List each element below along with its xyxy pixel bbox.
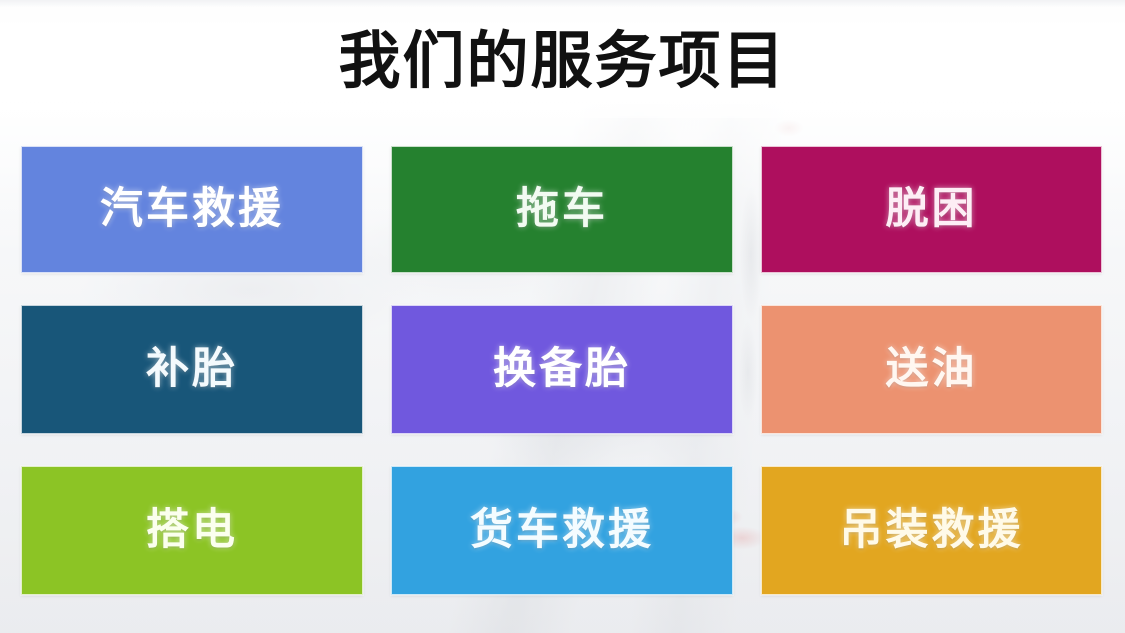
service-grid: 汽车救援拖车脱困补胎换备胎送油搭电货车救援吊装救援 xyxy=(21,146,1102,597)
service-tile-crane-hoist-rescue[interactable]: 吊装救援 xyxy=(761,466,1102,595)
service-tile-label: 补胎 xyxy=(146,348,238,391)
title-bar: 我们的服务项目 xyxy=(0,0,1125,118)
service-tile-truck-rescue[interactable]: 货车救援 xyxy=(391,466,733,595)
service-tile-label: 送油 xyxy=(886,348,978,391)
service-tile-extrication[interactable]: 脱困 xyxy=(761,146,1102,273)
service-tile-fuel-delivery[interactable]: 送油 xyxy=(761,305,1102,434)
service-tile-spare-tire-change[interactable]: 换备胎 xyxy=(391,305,733,434)
service-tile-label: 吊装救援 xyxy=(840,509,1024,552)
service-tile-label: 拖车 xyxy=(516,188,608,231)
service-tile-label: 货车救援 xyxy=(470,509,654,552)
service-tile-jump-start[interactable]: 搭电 xyxy=(21,466,363,595)
page-title: 我们的服务项目 xyxy=(338,30,786,92)
service-tile-tow-truck[interactable]: 拖车 xyxy=(391,146,733,273)
service-tile-label: 换备胎 xyxy=(493,348,631,391)
service-poster: 我们的服务项目 汽车救援拖车脱困补胎换备胎送油搭电货车救援吊装救援 xyxy=(0,0,1125,633)
service-tile-label: 搭电 xyxy=(146,509,238,552)
service-tile-label: 汽车救援 xyxy=(100,188,284,231)
service-tile-car-rescue[interactable]: 汽车救援 xyxy=(21,146,363,273)
service-tile-tire-repair[interactable]: 补胎 xyxy=(21,305,363,434)
service-tile-label: 脱困 xyxy=(886,188,978,231)
